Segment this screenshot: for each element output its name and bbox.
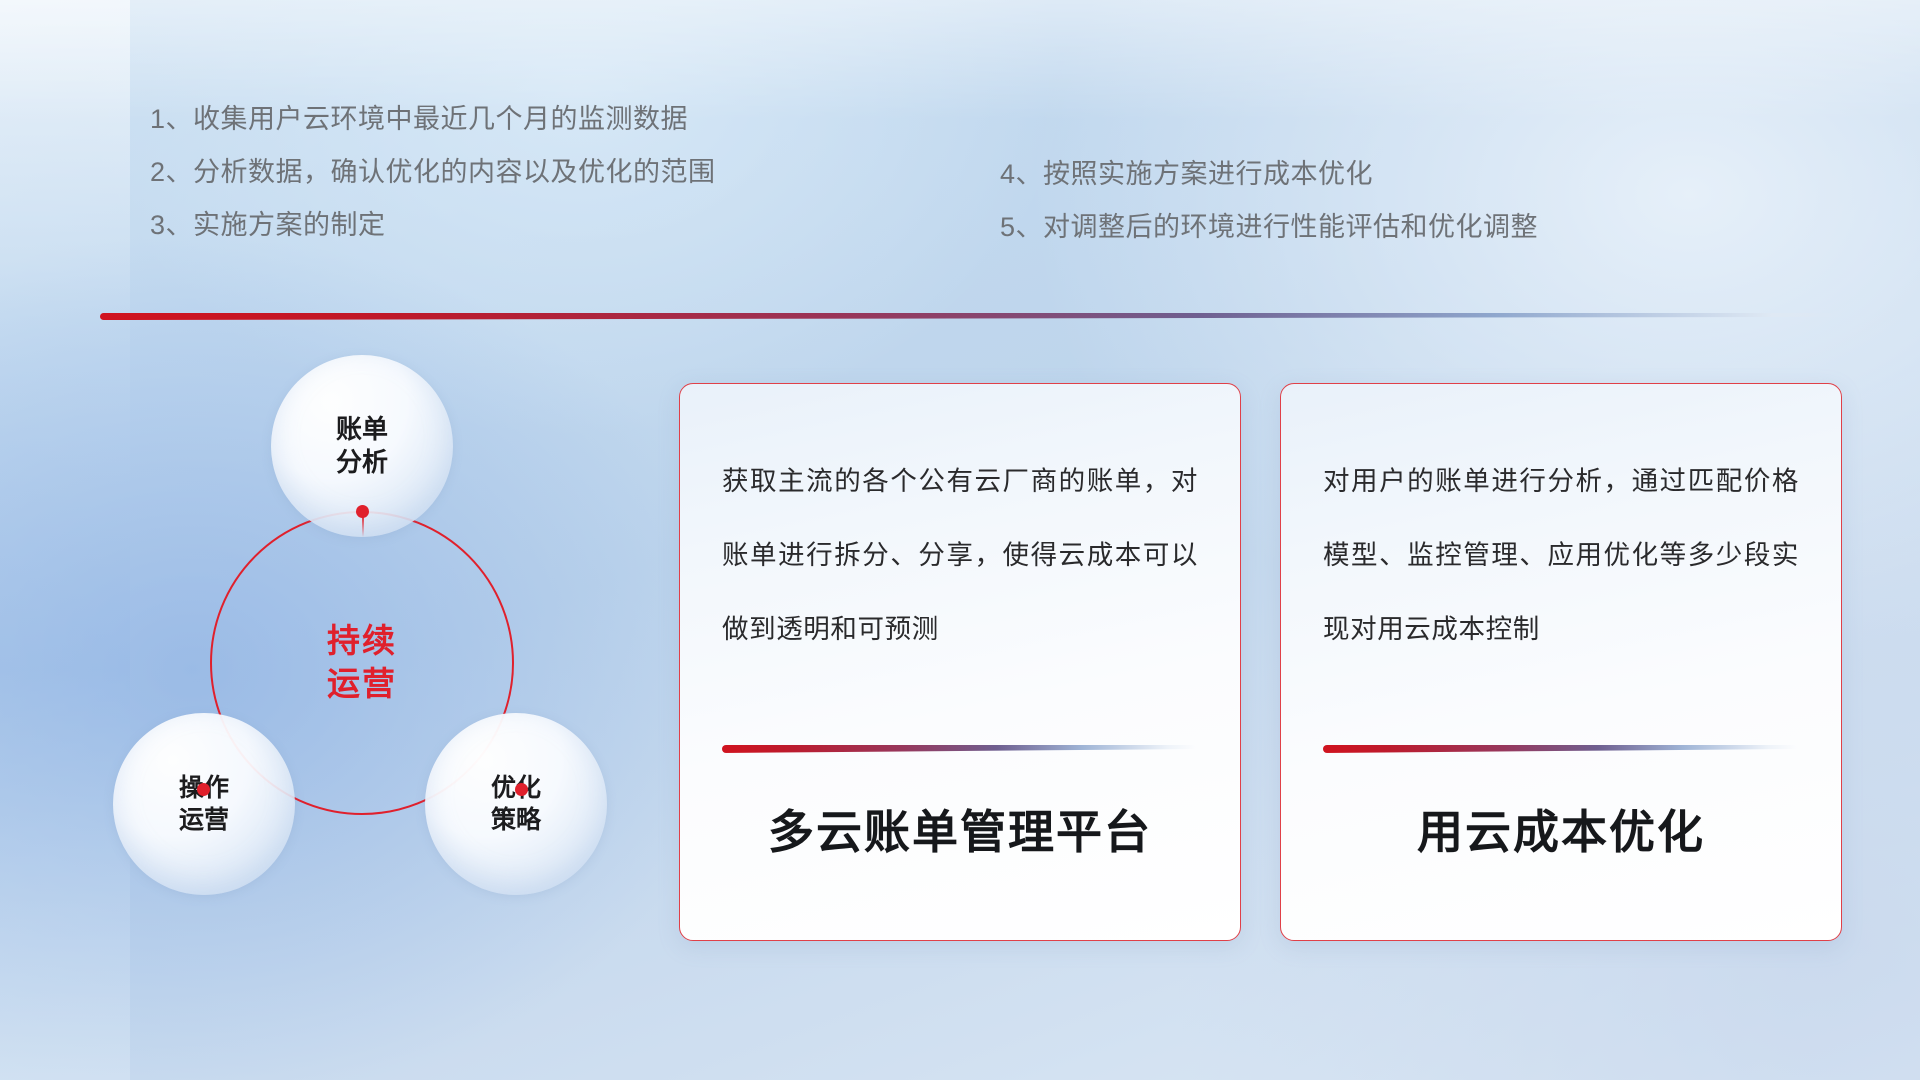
- step-item-4: 4、按照实施方案进行成本优化: [1000, 148, 1538, 201]
- operations-circle-diagram: 持续 运营 账单 分析 操作 运营 优化 策略: [95, 355, 640, 925]
- card-body-text: 对用户的账单进行分析，通过匹配价格模型、监控管理、应用优化等多少段实现对用云成本…: [1323, 444, 1799, 666]
- slide-canvas: 1、收集用户云环境中最近几个月的监测数据 2、分析数据，确认优化的内容以及优化的…: [0, 0, 1920, 1080]
- diagram-node-optimization-strategy[interactable]: 优化 策略: [425, 713, 607, 895]
- step-item-1: 1、收集用户云环境中最近几个月的监测数据: [150, 93, 716, 146]
- card-multicloud-billing-platform[interactable]: 获取主流的各个公有云厂商的账单，对账单进行拆分、分享，使得云成本可以做到透明和可…: [679, 383, 1241, 941]
- steps-left-column: 1、收集用户云环境中最近几个月的监测数据 2、分析数据，确认优化的内容以及优化的…: [150, 93, 716, 252]
- steps-right-column: 4、按照实施方案进行成本优化 5、对调整后的环境进行性能评估和优化调整: [1000, 148, 1538, 254]
- card-title: 用云成本优化: [1281, 796, 1841, 862]
- step-item-2: 2、分析数据，确认优化的内容以及优化的范围: [150, 146, 716, 199]
- center-label-line2: 运营: [327, 663, 397, 706]
- node-label-line2: 运营: [179, 804, 229, 836]
- section-divider-rule: [100, 313, 1842, 320]
- step-item-5: 5、对调整后的环境进行性能评估和优化调整: [1000, 201, 1538, 254]
- card-divider-rule: [722, 745, 1196, 753]
- connector-dot-top: [356, 505, 369, 518]
- node-label-line2: 策略: [491, 804, 541, 836]
- node-label-line2: 分析: [336, 446, 388, 479]
- card-cloud-cost-optimization[interactable]: 对用户的账单进行分析，通过匹配价格模型、监控管理、应用优化等多少段实现对用云成本…: [1280, 383, 1842, 941]
- center-label-line1: 持续: [327, 620, 397, 663]
- node-label-line1: 账单: [336, 413, 388, 446]
- card-divider-rule: [1323, 745, 1797, 753]
- card-title: 多云账单管理平台: [680, 796, 1240, 862]
- connector-tick-top: [362, 515, 364, 537]
- step-item-3: 3、实施方案的制定: [150, 199, 716, 252]
- diagram-node-operations[interactable]: 操作 运营: [113, 713, 295, 895]
- connector-dot-left: [197, 783, 210, 796]
- connector-dot-right: [515, 783, 528, 796]
- card-body-text: 获取主流的各个公有云厂商的账单，对账单进行拆分、分享，使得云成本可以做到透明和可…: [722, 444, 1198, 666]
